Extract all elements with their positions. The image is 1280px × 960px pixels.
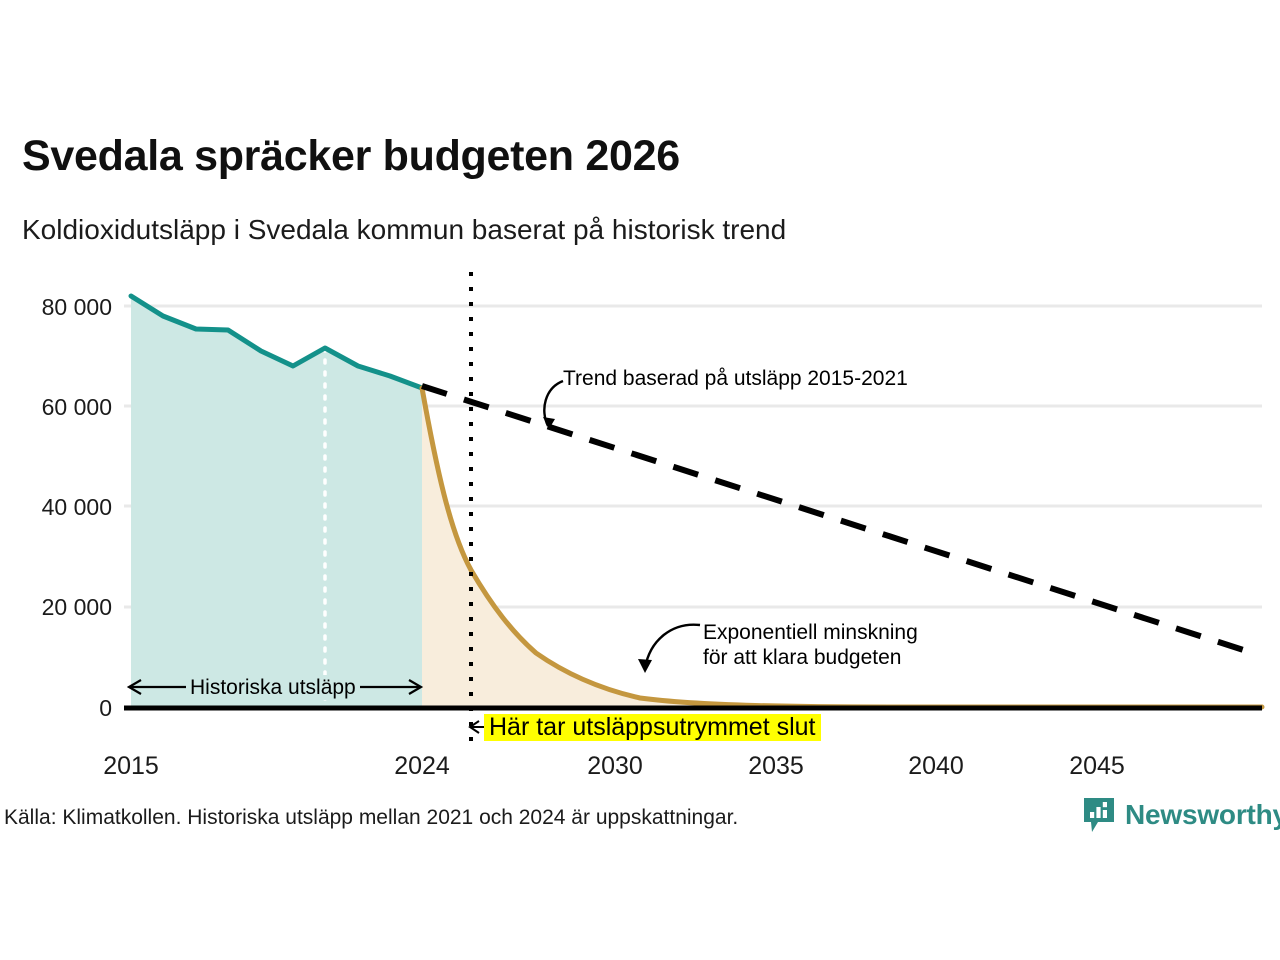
logo-text: Newsworthy: [1125, 799, 1280, 831]
annotation-budget-end: Här tar utsläppsutrymmet slut: [484, 714, 821, 741]
annotation-trend: Trend baserad på utsläpp 2015-2021: [563, 366, 908, 391]
xtick-label-2035: 2035: [706, 752, 846, 781]
page-subtitle: Koldioxidutsläpp i Svedala kommun basera…: [22, 214, 786, 246]
source-note: Källa: Klimatkollen. Historiska utsläpp …: [4, 806, 738, 830]
xtick-label-2030: 2030: [545, 752, 685, 781]
newsworthy-logo: Newsworthy: [1082, 796, 1280, 834]
xtick-label-2040: 2040: [866, 752, 1006, 781]
xtick-label-2015: 2015: [61, 752, 201, 781]
bar-chart-speech-bubble-icon: [1082, 796, 1116, 834]
trend-dashed-line: [422, 386, 1259, 655]
chart-svg: [0, 270, 1280, 790]
annotation-exponential-line2: för att klara budgeten: [703, 645, 918, 670]
annotation-exponential: Exponentiell minskning för att klara bud…: [703, 620, 918, 670]
chart-page: Svedala spräcker budgeten 2026 Koldioxid…: [0, 0, 1280, 960]
page-title: Svedala spräcker budgeten 2026: [22, 132, 680, 181]
chart-plot-area: [0, 270, 1280, 790]
annotation-historical-span: Historiska utsläpp: [186, 675, 360, 700]
annotation-exponential-line1: Exponentiell minskning: [703, 620, 918, 645]
xtick-label-2045: 2045: [1027, 752, 1167, 781]
exponential-callout-arrow: [638, 625, 700, 673]
xtick-label-2024: 2024: [352, 752, 492, 781]
